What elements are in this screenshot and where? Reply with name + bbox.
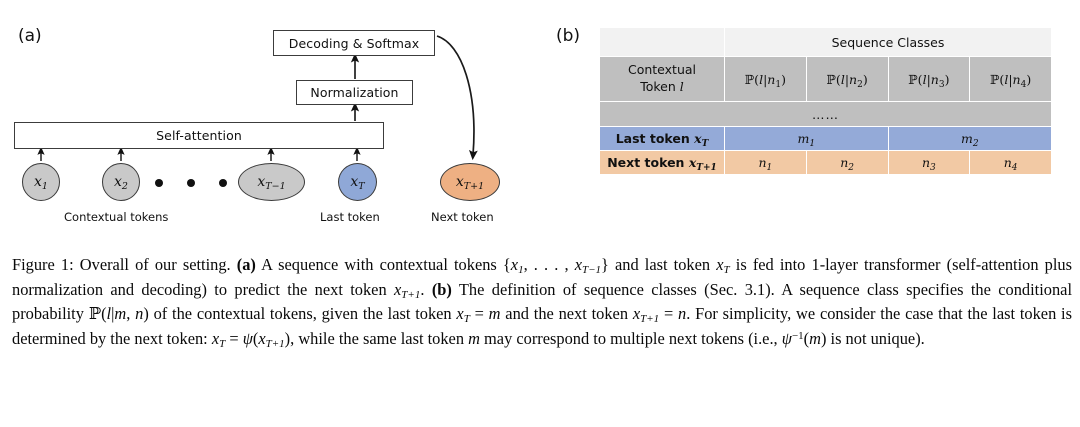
self-attention-box: Self-attention	[14, 122, 384, 149]
token-xT: xT	[338, 163, 377, 201]
contextual-token-label: Contextual Token l	[600, 57, 724, 101]
prob-header-n2: ℙ(l|n2)	[807, 57, 888, 101]
token-x2: x2	[102, 163, 140, 201]
table-row-header: Sequence Classes	[600, 28, 1051, 56]
prob-header-n1: ℙ(l|n1)	[725, 57, 806, 101]
next-token-value-n2: n2	[807, 151, 888, 174]
token-x2-subscript: 2	[122, 181, 128, 192]
token-xT-label: x	[350, 174, 358, 190]
next-token-value-n3: n3	[889, 151, 970, 174]
token-xT-subscript: T	[358, 181, 364, 192]
table-row-prob-headers: Contextual Token l ℙ(l|n1) ℙ(l|n2) ℙ(l|n…	[600, 57, 1051, 101]
token-x1-subscript: 1	[42, 181, 48, 192]
prob-header-n3: ℙ(l|n3)	[889, 57, 970, 101]
token-xT-minus-1: xT−1	[238, 163, 305, 201]
next-token-value-n1: n1	[725, 151, 806, 174]
sequence-classes-header: Sequence Classes	[725, 28, 1051, 56]
token-xT-plus-1-subscript: T+1	[464, 181, 484, 192]
token-x1: x1	[22, 163, 60, 201]
label-last-token: Last token	[320, 210, 380, 224]
panel-b-label: (b)	[556, 26, 580, 46]
token-x1-label: x	[34, 174, 42, 190]
ellipsis-dots-icon	[155, 173, 227, 193]
contextual-token-line1: Contextual	[628, 62, 696, 77]
table-corner-blank	[600, 28, 724, 56]
table-row-last-token: Last token xT m1 m2	[600, 127, 1051, 150]
token-xT-plus-1-label: x	[456, 174, 464, 190]
prob-header-n4: ℙ(l|n4)	[970, 57, 1051, 101]
last-token-value-m1: m1	[725, 127, 888, 150]
token-xT-minus-1-label: x	[257, 174, 265, 190]
panel-b-table: Sequence Classes Contextual Token l ℙ(l|…	[599, 27, 1052, 175]
figure-caption: Figure 1: Overall of our setting. (a) A …	[12, 254, 1072, 352]
table-ellipsis-cell: ……	[600, 102, 1051, 126]
token-xT-minus-1-subscript: T−1	[265, 181, 285, 192]
table-row-ellipsis: ……	[600, 102, 1051, 126]
token-xT-plus-1: xT+1	[440, 163, 500, 201]
decoding-softmax-box: Decoding & Softmax	[273, 30, 435, 56]
sequence-classes-table: Sequence Classes Contextual Token l ℙ(l|…	[599, 27, 1052, 175]
next-token-row-label: Next token xT+1	[600, 151, 724, 174]
last-token-value-m2: m2	[889, 127, 1052, 150]
label-contextual-tokens: Contextual tokens	[64, 210, 168, 224]
token-x2-label: x	[114, 174, 122, 190]
panel-a-arrows	[0, 0, 540, 240]
label-next-token: Next token	[431, 210, 494, 224]
table-row-next-token: Next token xT+1 n1 n2 n3 n4	[600, 151, 1051, 174]
figure-number: Figure 1:	[12, 255, 74, 274]
panel-a-diagram: (a) Decoding & Softmax Normalization Sel…	[0, 0, 540, 240]
normalization-box: Normalization	[296, 80, 413, 105]
last-token-row-label: Last token xT	[600, 127, 724, 150]
next-token-value-n4: n4	[970, 151, 1051, 174]
